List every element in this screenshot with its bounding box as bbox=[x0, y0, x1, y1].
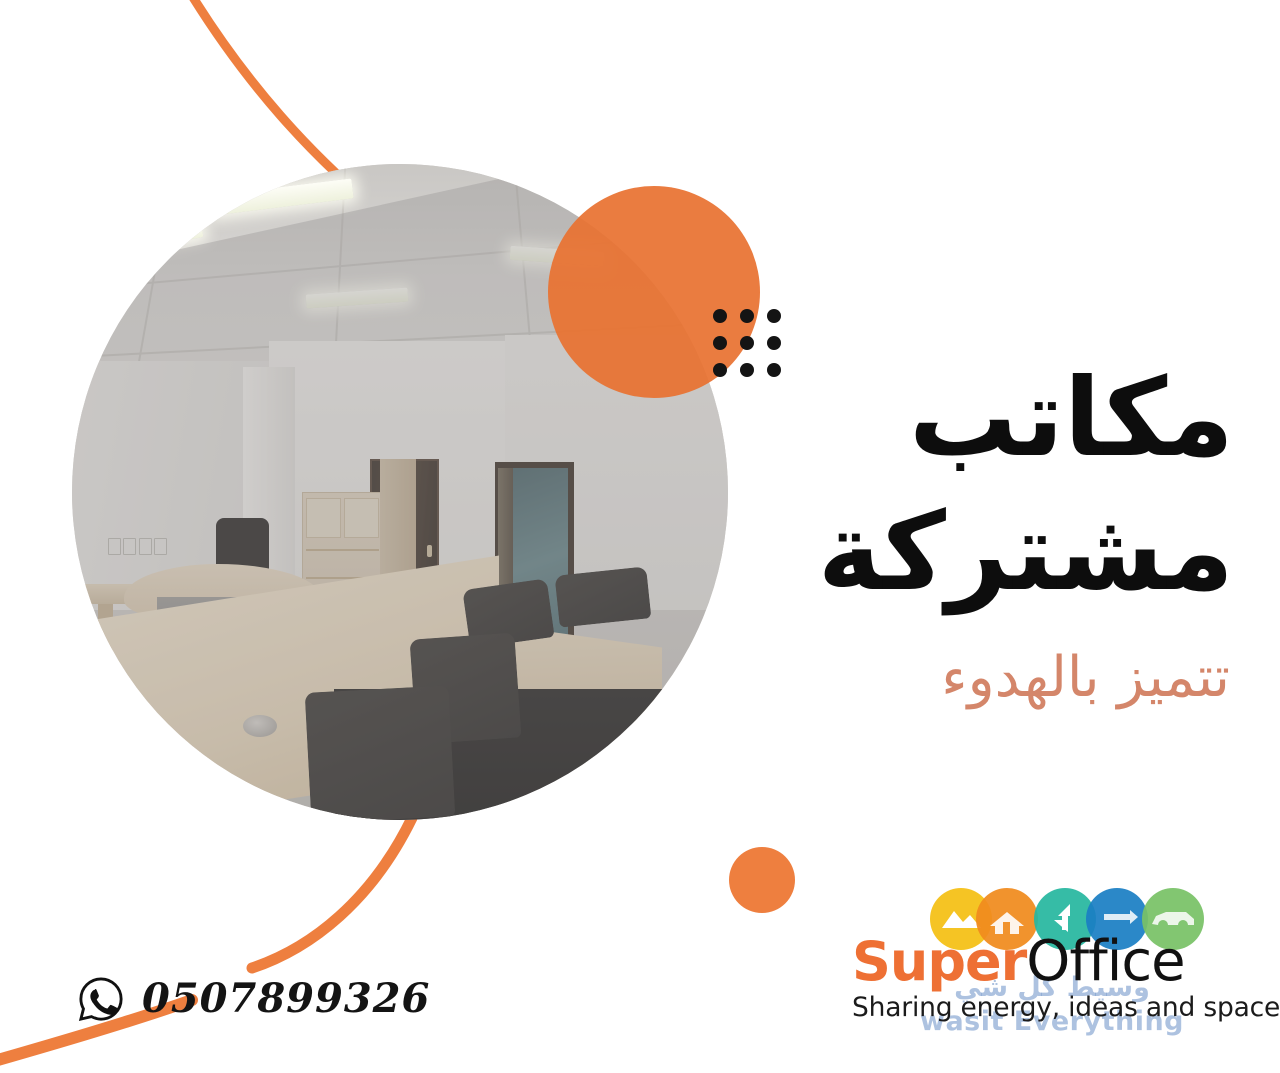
orange-arc-bottom-left bbox=[252, 818, 412, 968]
headline-subtitle: تتميز بالهدوء bbox=[590, 644, 1230, 711]
whatsapp-icon[interactable] bbox=[78, 976, 124, 1022]
logo-office-text: Office bbox=[1026, 929, 1184, 994]
wall-sockets bbox=[108, 538, 167, 555]
desk-object bbox=[243, 715, 277, 737]
poster-canvas: مكاتب مشتركة تتميز بالهدوء 0507899326 bbox=[0, 0, 1280, 1073]
office-chair bbox=[305, 685, 456, 820]
brand-logo: وسيط كل شي wasit Everything SuperOffice … bbox=[852, 888, 1252, 1048]
headline-line-1: مكاتب bbox=[594, 352, 1234, 486]
logo-wordmark: SuperOffice bbox=[852, 934, 1252, 990]
logo-tagline: Sharing energy, ideas and space bbox=[852, 992, 1252, 1023]
contact-row[interactable]: 0507899326 bbox=[78, 975, 430, 1022]
headline-line-2: مشتركة bbox=[594, 486, 1234, 620]
phone-number[interactable]: 0507899326 bbox=[142, 975, 430, 1022]
headline: مكاتب مشتركة bbox=[594, 352, 1234, 620]
orange-dot bbox=[729, 847, 795, 913]
logo-super-text: Super bbox=[852, 930, 1026, 993]
